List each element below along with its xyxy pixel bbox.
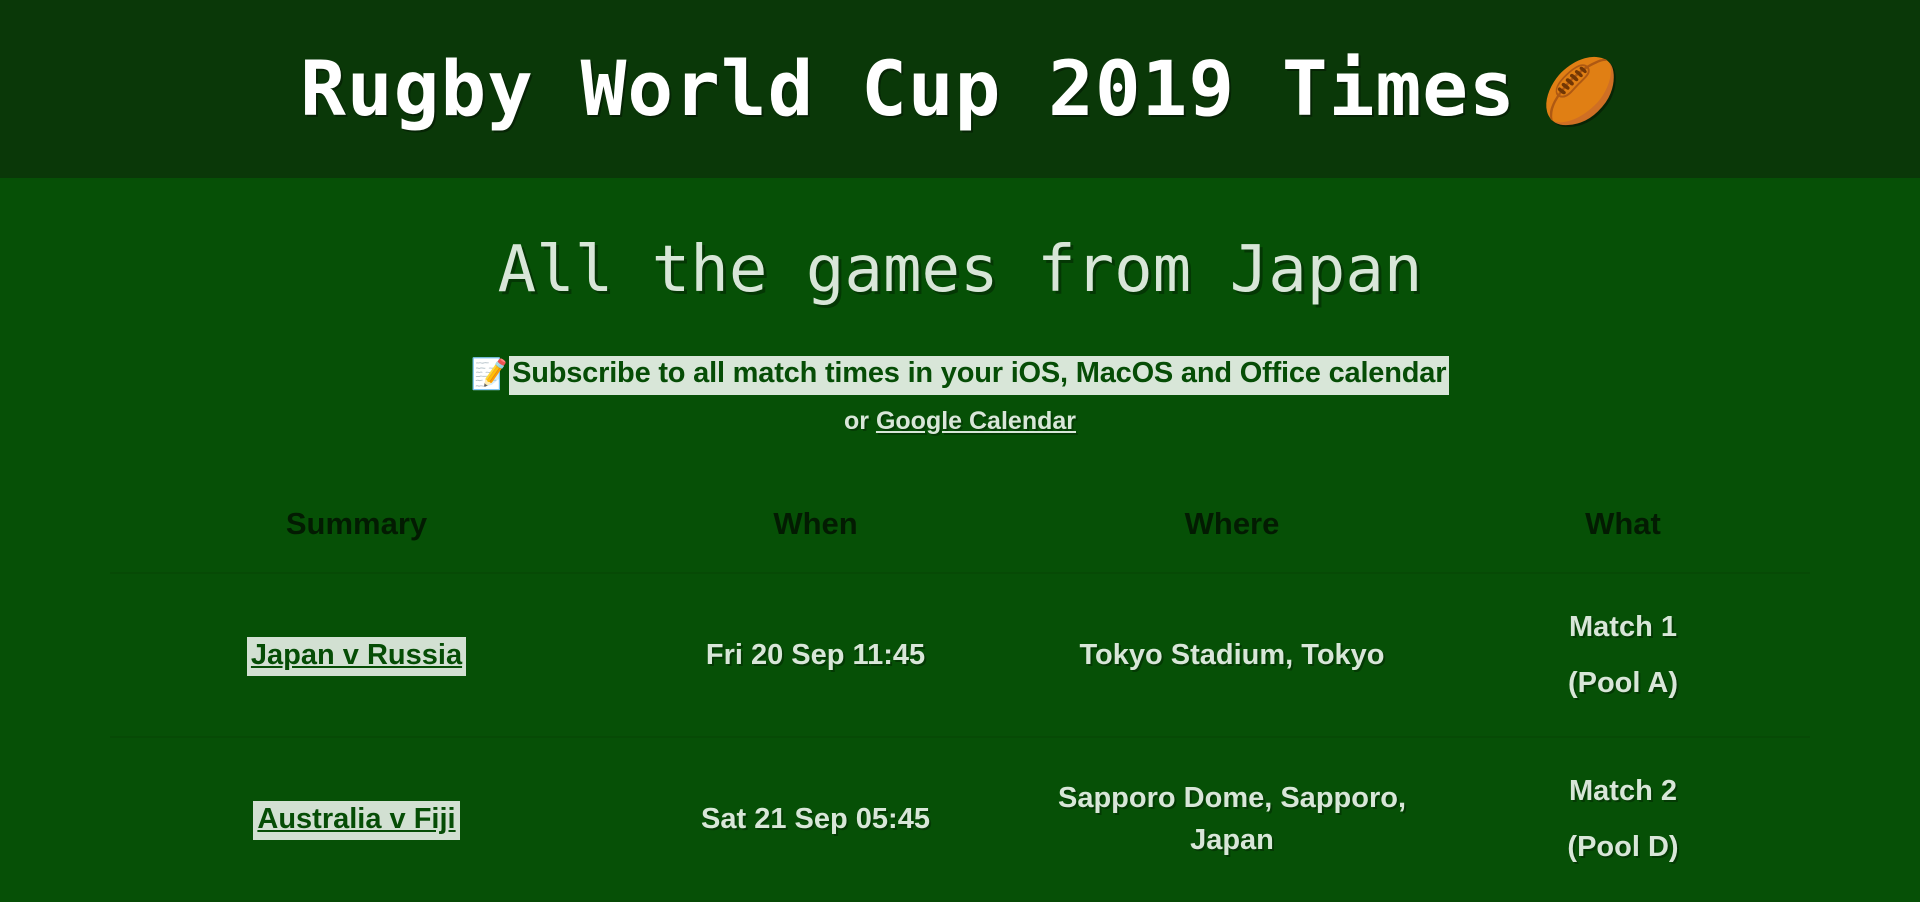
match-number: Match 2 [1448,770,1798,812]
match-pool: (Pool A) [1448,662,1798,704]
schedule-table-wrap: Summary When Where What Japan v Russia F… [0,492,1920,902]
column-header-what: What [1436,492,1810,573]
schedule-table-body: Japan v Russia Fri 20 Sep 11:45 Tokyo St… [110,573,1810,901]
schedule-table-head: Summary When Where What [110,492,1810,573]
match-link[interactable]: Australia v Fiji [253,801,459,840]
rugby-ball-icon: 🏉 [1542,60,1620,122]
cell-what: Match 2 (Pool D) [1436,737,1810,901]
cell-when: Sat 21 Sep 05:45 [603,737,1028,901]
column-header-where: Where [1028,492,1436,573]
site-header: Rugby World Cup 2019 Times 🏉 [0,0,1920,178]
page-title: Rugby World Cup 2019 Times 🏉 [300,51,1620,127]
subscribe-line: 📝 Subscribe to all match times in your i… [471,356,1450,395]
cell-when: Fri 20 Sep 11:45 [603,573,1028,737]
match-pool: (Pool D) [1448,826,1798,868]
cell-summary: Australia v Fiji [110,737,603,901]
main-content: All the games from Japan 📝 Subscribe to … [0,178,1920,902]
alt-calendar-line: or Google Calendar [0,407,1920,436]
cell-where: Sapporo Dome, Sapporo, Japan [1028,737,1436,901]
google-calendar-link[interactable]: Google Calendar [876,407,1076,435]
table-row: Japan v Russia Fri 20 Sep 11:45 Tokyo St… [110,573,1810,737]
column-header-when: When [603,492,1028,573]
alt-calendar-prefix: or [844,407,876,435]
table-header-row: Summary When Where What [110,492,1810,573]
subscribe-calendar-link[interactable]: Subscribe to all match times in your iOS… [509,356,1449,395]
table-row: Australia v Fiji Sat 21 Sep 05:45 Sappor… [110,737,1810,901]
match-link[interactable]: Japan v Russia [247,637,466,676]
cell-where: Tokyo Stadium, Tokyo [1028,573,1436,737]
match-number: Match 1 [1448,606,1798,648]
cell-summary: Japan v Russia [110,573,603,737]
subtitle: All the games from Japan [0,230,1920,310]
memo-icon: 📝 [471,360,508,390]
page-title-text: Rugby World Cup 2019 Times [300,51,1516,127]
schedule-table: Summary When Where What Japan v Russia F… [110,492,1810,902]
cell-what: Match 1 (Pool A) [1436,573,1810,737]
subscribe-block: 📝 Subscribe to all match times in your i… [0,356,1920,436]
column-header-summary: Summary [110,492,603,573]
